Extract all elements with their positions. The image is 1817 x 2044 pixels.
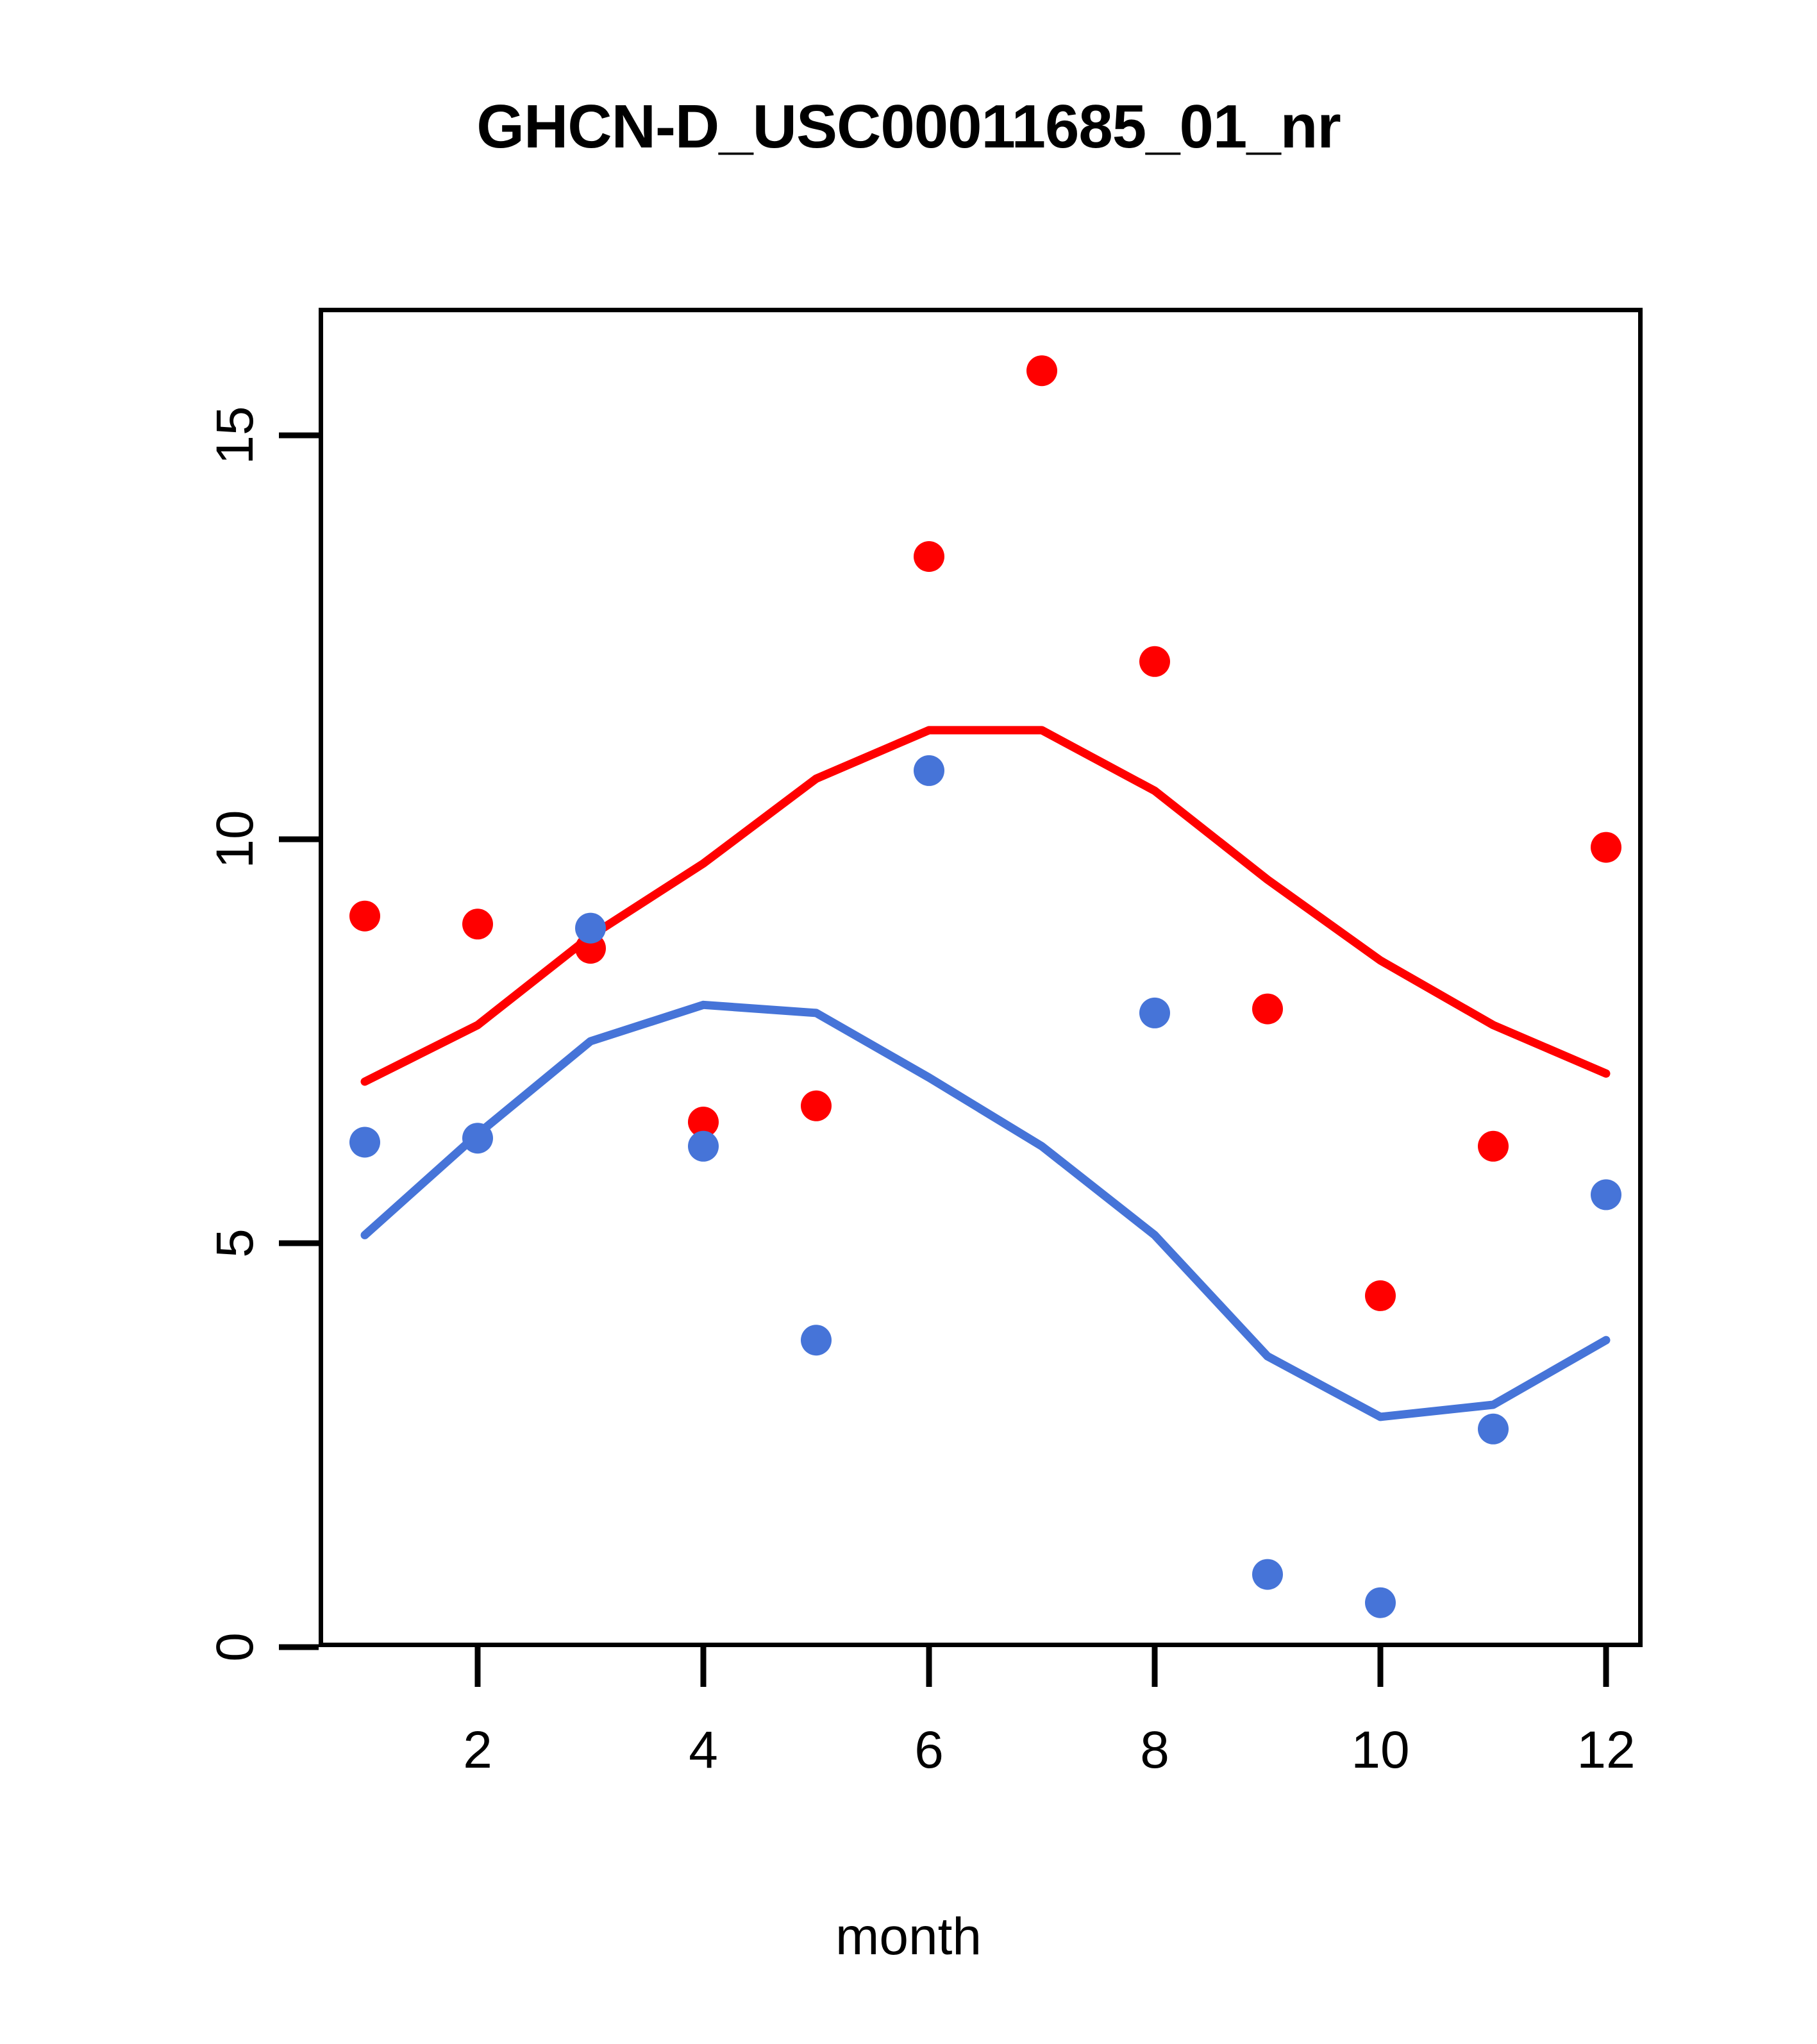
x-axis-ticks [478,1647,1606,1687]
y-tick-label: 15 [209,406,262,464]
plot-area [319,308,1643,1647]
x-tick-label: 6 [914,1724,944,1777]
x-tick-label: 8 [1140,1724,1169,1777]
chart-figure: GHCN-D_USC00011685_01_nr 051015 24681012… [0,0,1817,2044]
y-tick-label: 0 [209,1632,262,1662]
y-tick-label: 10 [209,810,262,868]
x-tick-label: 12 [1577,1724,1635,1777]
x-tick-label: 4 [689,1724,718,1777]
x-tick-label: 2 [463,1724,492,1777]
y-tick-label: 5 [209,1228,262,1258]
page-title: GHCN-D_USC00011685_01_nr [0,96,1817,158]
y-axis-ticks [279,435,319,1647]
x-axis-title: month [0,1911,1817,1963]
x-tick-label: 10 [1351,1724,1409,1777]
